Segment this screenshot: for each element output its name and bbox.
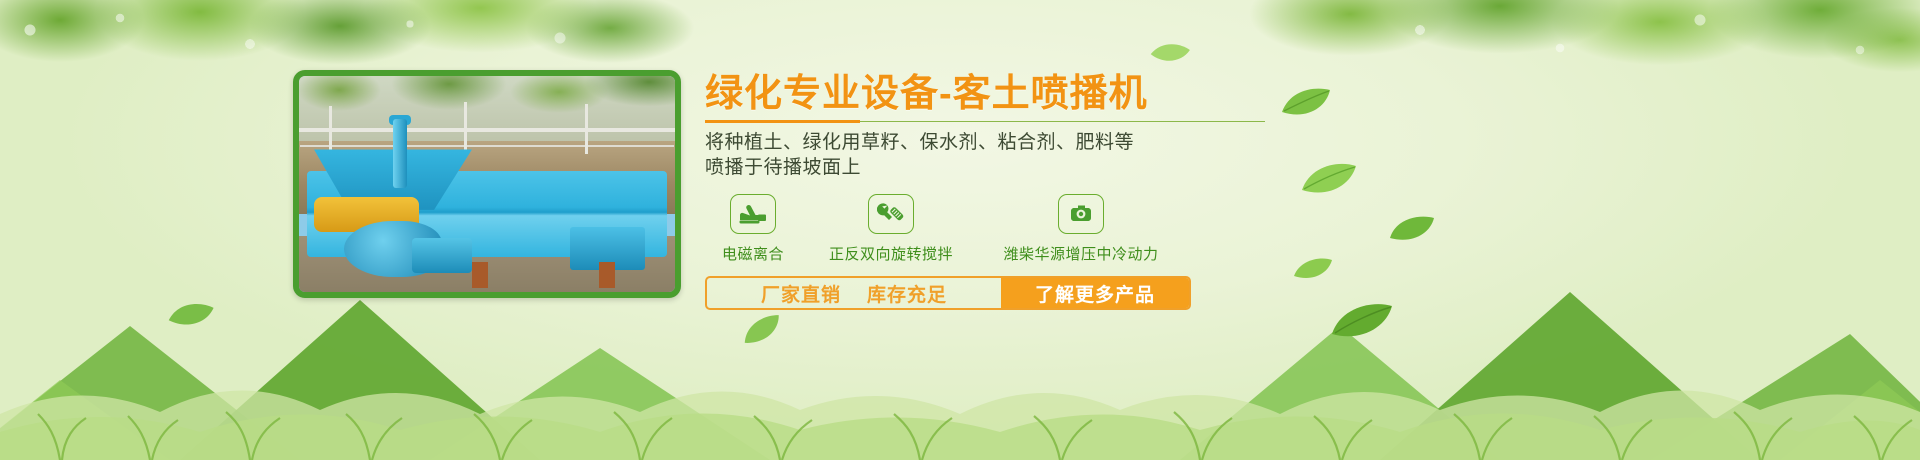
divider-green-segment xyxy=(860,121,1265,122)
leaf-icon xyxy=(166,296,217,334)
feature-label: 正反双向旋转搅拌 xyxy=(801,243,981,264)
subtitle: 将种植土、绿化用草籽、保水剂、粘合剂、肥料等 喷播于待播坡面上 xyxy=(705,130,1285,180)
feature-label: 电磁离合 xyxy=(705,243,801,264)
feature-list: 电磁离合 xyxy=(705,194,1285,264)
title-divider xyxy=(705,120,1265,123)
divider-orange-segment xyxy=(705,120,860,123)
subtitle-line-1: 将种植土、绿化用草籽、保水剂、粘合剂、肥料等 xyxy=(705,130,1285,155)
subtitle-line-2: 喷播于待播坡面上 xyxy=(705,155,1285,180)
cta-tag-in-stock: 库存充足 xyxy=(867,280,947,307)
leaf-icon xyxy=(1300,160,1358,196)
leaf-icon xyxy=(1330,300,1394,340)
page-title: 绿化专业设备-客土喷播机 xyxy=(705,72,1285,116)
clutch-hand-icon xyxy=(739,203,767,225)
grass-decoration xyxy=(0,340,1920,460)
cta-bar: 厂家直销 库存充足 了解更多产品 xyxy=(705,276,1191,310)
engine-power-icon xyxy=(1067,202,1095,226)
leaf-icon xyxy=(1147,34,1193,71)
learn-more-button[interactable]: 了解更多产品 xyxy=(1001,278,1189,308)
leaf-icon xyxy=(1280,86,1332,120)
feature-item-mixing: 正反双向旋转搅拌 xyxy=(801,194,981,264)
banner-content: 绿化专业设备-客土喷播机 将种植土、绿化用草籽、保水剂、粘合剂、肥料等 喷播于待… xyxy=(705,72,1285,310)
leaf-icon xyxy=(1388,214,1436,244)
product-photo xyxy=(293,70,681,298)
feature-item-clutch: 电磁离合 xyxy=(705,194,801,264)
feature-icon-box xyxy=(1058,194,1104,234)
feature-icon-box xyxy=(868,194,914,234)
cta-tag-factory-direct: 厂家直销 xyxy=(761,280,841,307)
leaf-icon xyxy=(1292,256,1334,282)
wrench-tools-icon xyxy=(877,202,905,226)
cta-tags: 厂家直销 库存充足 xyxy=(707,278,1001,308)
feature-label: 潍柴华源增压中冷动力 xyxy=(981,243,1181,264)
promo-banner: 绿化专业设备-客土喷播机 将种植土、绿化用草籽、保水剂、粘合剂、肥料等 喷播于待… xyxy=(0,0,1920,460)
feature-icon-box xyxy=(730,194,776,234)
leaf-icon xyxy=(737,311,787,349)
feature-item-power: 潍柴华源增压中冷动力 xyxy=(981,194,1181,264)
